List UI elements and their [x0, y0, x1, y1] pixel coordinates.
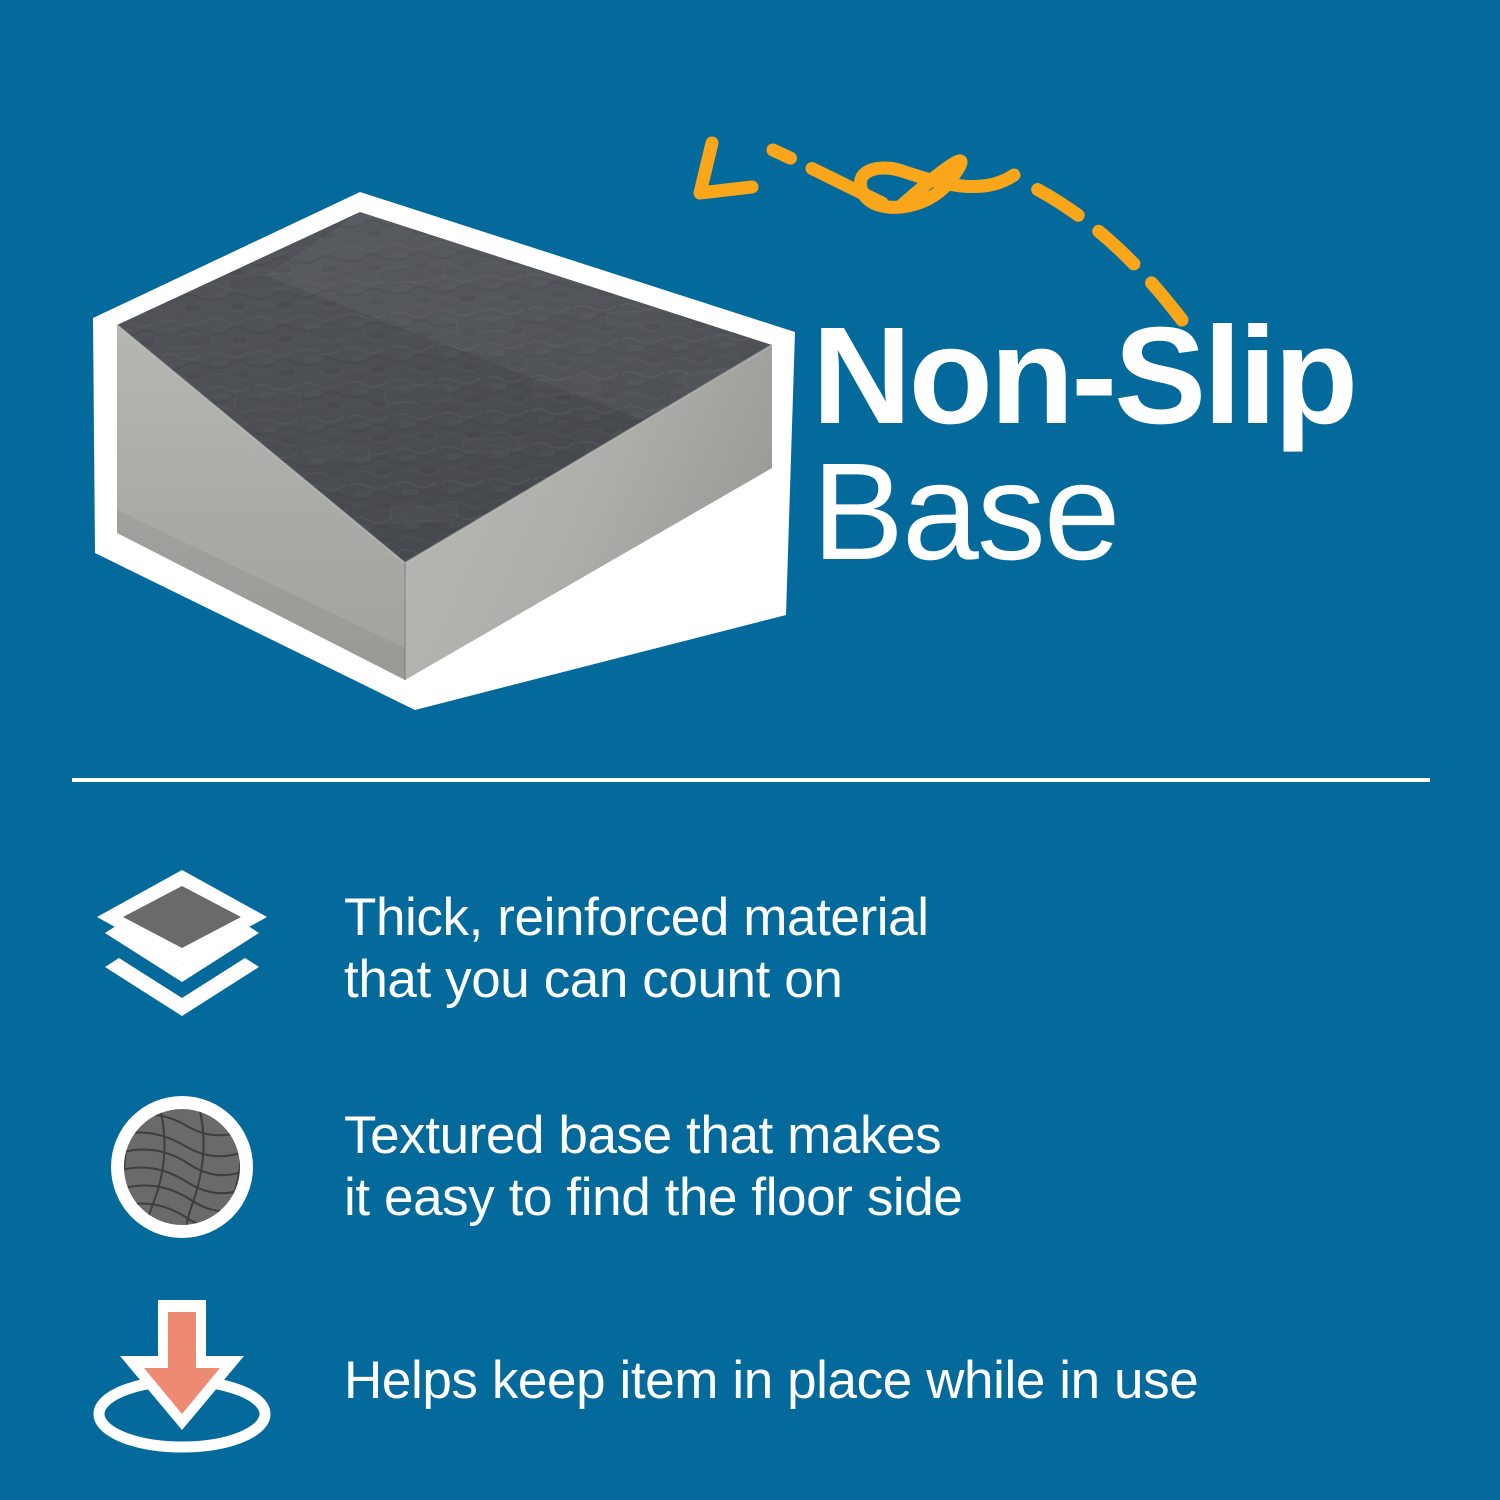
feature-text: Textured base that makes it easy to find… — [344, 1105, 962, 1229]
feature-list: Thick, reinforced material that you can … — [0, 840, 1500, 1486]
layers-icon — [82, 854, 282, 1044]
textured-circle-icon — [82, 1072, 282, 1262]
feature-row: Textured base that makes it easy to find… — [0, 1058, 1500, 1276]
feature-row: Helps keep item in place while in use — [0, 1276, 1500, 1486]
infographic-canvas: Non-Slip Base Thick, reinforced material… — [0, 0, 1500, 1500]
feature-text: Helps keep item in place while in use — [344, 1350, 1198, 1412]
product-hero-image — [60, 150, 800, 710]
headline-line-2: Base — [812, 442, 1452, 583]
feature-row: Thick, reinforced material that you can … — [0, 840, 1500, 1058]
page-title: Non-Slip Base — [812, 310, 1452, 583]
headline-line-1: Non-Slip — [812, 310, 1452, 442]
horizontal-divider — [72, 778, 1430, 782]
down-arrow-on-surface-icon — [82, 1286, 282, 1476]
feature-text: Thick, reinforced material that you can … — [344, 887, 929, 1011]
